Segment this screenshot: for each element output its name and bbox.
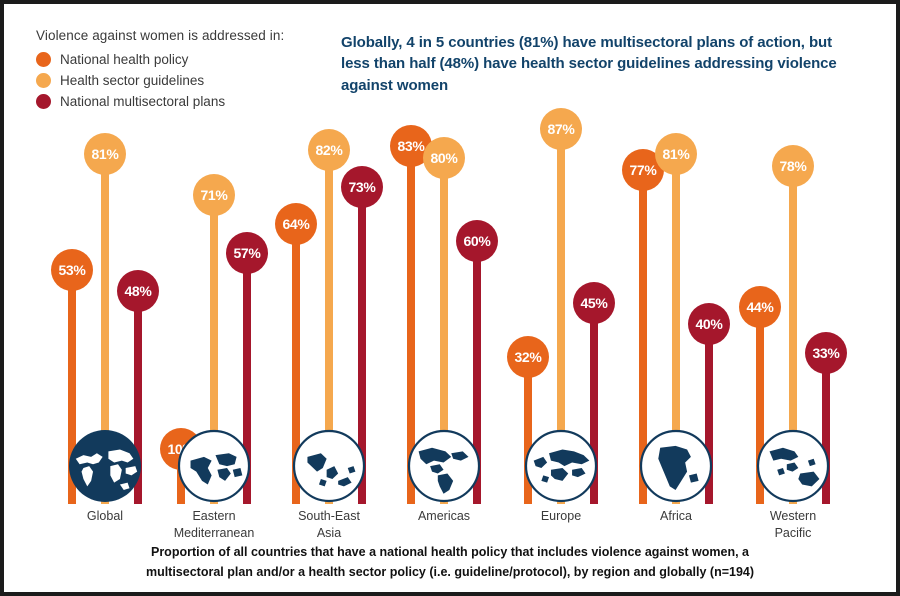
bar-value-label: 87%	[540, 108, 582, 150]
bar-value-label: 32%	[507, 336, 549, 378]
bar-value-label: 78%	[772, 145, 814, 187]
bar-value-label: 64%	[275, 203, 317, 245]
plot-area: 53%81%48%Global10%71%57%EasternMediterra…	[4, 4, 896, 592]
globe-western-pacific-icon	[756, 429, 830, 503]
chart-caption: Proportion of all countries that have a …	[124, 542, 776, 582]
globe-eastern-mediterranean-icon	[177, 429, 251, 503]
axis-tick-line2: Asia	[254, 525, 404, 542]
axis-tick-line1: Western	[718, 508, 868, 525]
axis-tick-line2: Pacific	[718, 525, 868, 542]
bar-value-label: 80%	[423, 137, 465, 179]
bar-group-western-pacific: 44%78%33%WesternPacific	[718, 4, 868, 504]
globe-europe-icon	[524, 429, 598, 503]
bar-value-label: 71%	[193, 174, 235, 216]
bar-value-label: 81%	[655, 133, 697, 175]
bar-value-label: 53%	[51, 249, 93, 291]
bar-value-label: 81%	[84, 133, 126, 175]
bar-value-label: 44%	[739, 286, 781, 328]
axis-tick-label: WesternPacific	[718, 508, 868, 542]
globe-south-east-asia-icon	[292, 429, 366, 503]
globe-world-icon	[68, 429, 142, 503]
globe-americas-icon	[407, 429, 481, 503]
globe-africa-icon	[639, 429, 713, 503]
chart-canvas: Violence against women is addressed in: …	[4, 4, 896, 592]
bar-value-label: 33%	[805, 332, 847, 374]
bar-value-label: 82%	[308, 129, 350, 171]
